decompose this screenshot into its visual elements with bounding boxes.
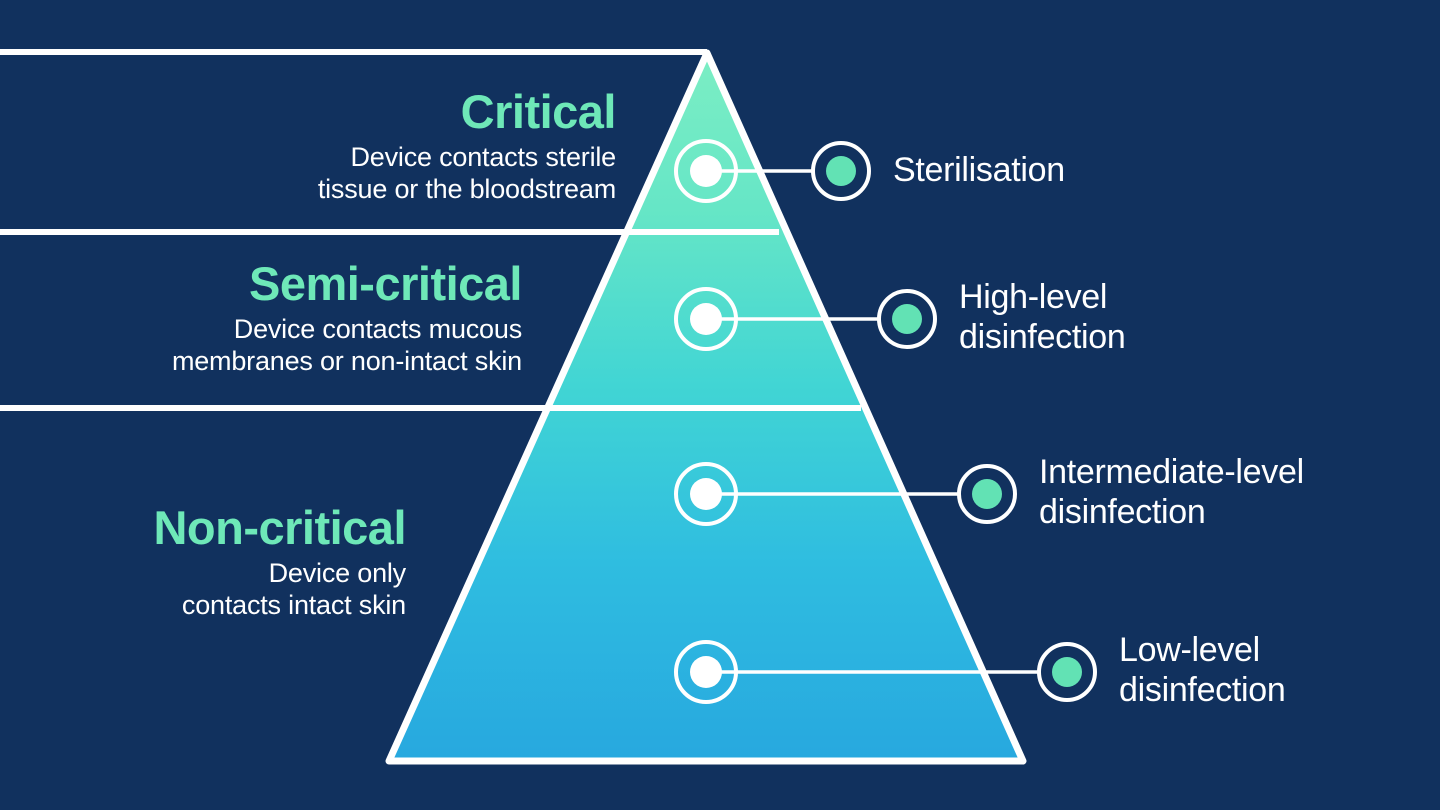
infographic-canvas: Critical Device contacts sterile tissue … <box>0 0 1440 810</box>
process-marker-sterilisation[interactable] <box>813 143 869 199</box>
tier-non-critical-description: Device only contacts intact skin <box>0 558 406 621</box>
tier-critical-description: Device contacts sterile tissue or the bl… <box>0 142 616 205</box>
process-marker-high-level-disinfection[interactable] <box>879 291 935 347</box>
process-marker-intermediate-level-disinfection[interactable] <box>959 466 1015 522</box>
process-label-high-level-disinfection: High-level disinfection <box>959 277 1126 357</box>
tier-semi-critical-title: Semi-critical <box>0 260 522 307</box>
tier-non-critical: Non-critical Device only contacts intact… <box>0 504 406 621</box>
process-marker-low-level-disinfection[interactable] <box>1039 644 1095 700</box>
tier-critical: Critical Device contacts sterile tissue … <box>0 88 616 205</box>
tier-semi-critical: Semi-critical Device contacts mucous mem… <box>0 260 522 377</box>
tier-non-critical-title: Non-critical <box>0 504 406 551</box>
process-label-intermediate-level-disinfection: Intermediate-level disinfection <box>1039 452 1304 532</box>
tier-critical-title: Critical <box>0 88 616 135</box>
tier-semi-critical-description: Device contacts mucous membranes or non-… <box>0 314 522 377</box>
process-label-sterilisation: Sterilisation <box>893 150 1065 190</box>
process-label-low-level-disinfection: Low-level disinfection <box>1119 630 1286 710</box>
